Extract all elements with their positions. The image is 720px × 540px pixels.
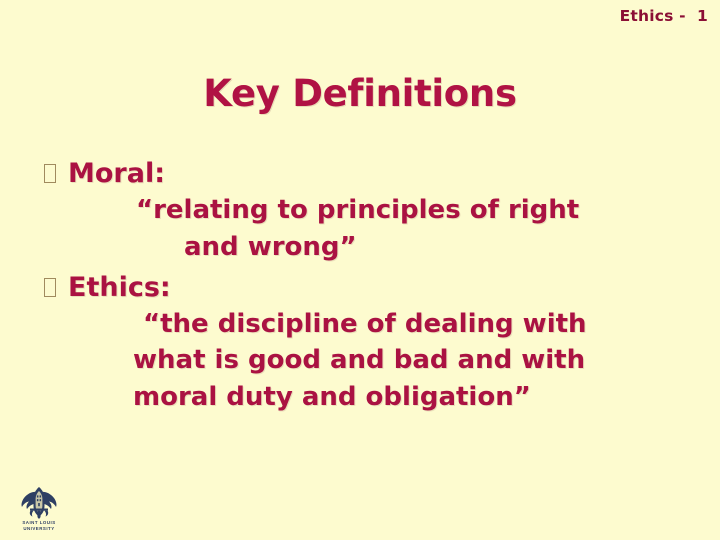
slide-header-label: Ethics - 1 xyxy=(620,7,708,25)
page-title: Key Definitions xyxy=(0,72,720,115)
quote-line-ethics-2: what is good and bad and with xyxy=(0,342,720,379)
saint-louis-university-logo: SAINT LOUIS UNIVERSITY xyxy=(12,486,66,534)
missing-glyph-box-icon xyxy=(44,278,56,297)
missing-glyph-box-icon xyxy=(44,164,56,183)
quote-line-ethics-1: “the discipline of dealing with xyxy=(0,306,720,343)
quote-line-moral-1: “relating to principles of right xyxy=(0,192,720,229)
bullet-item-ethics: Ethics: xyxy=(0,272,720,304)
bullet-label-moral: Moral: xyxy=(68,158,165,190)
presentation-slide: Ethics - 1 Key Definitions Moral: “relat… xyxy=(0,0,720,540)
quote-line-moral-2: and wrong” xyxy=(0,229,720,266)
logo-wordmark: SAINT LOUIS UNIVERSITY xyxy=(12,520,66,533)
fleur-de-lis-icon xyxy=(17,486,61,519)
slide-body: Moral: “relating to principles of right … xyxy=(0,158,720,416)
logo-wordmark-line2: UNIVERSITY xyxy=(12,526,66,532)
bullet-label-ethics: Ethics: xyxy=(68,272,171,304)
bullet-item-moral: Moral: xyxy=(0,158,720,190)
quote-line-ethics-3: moral duty and obligation” xyxy=(0,379,720,416)
